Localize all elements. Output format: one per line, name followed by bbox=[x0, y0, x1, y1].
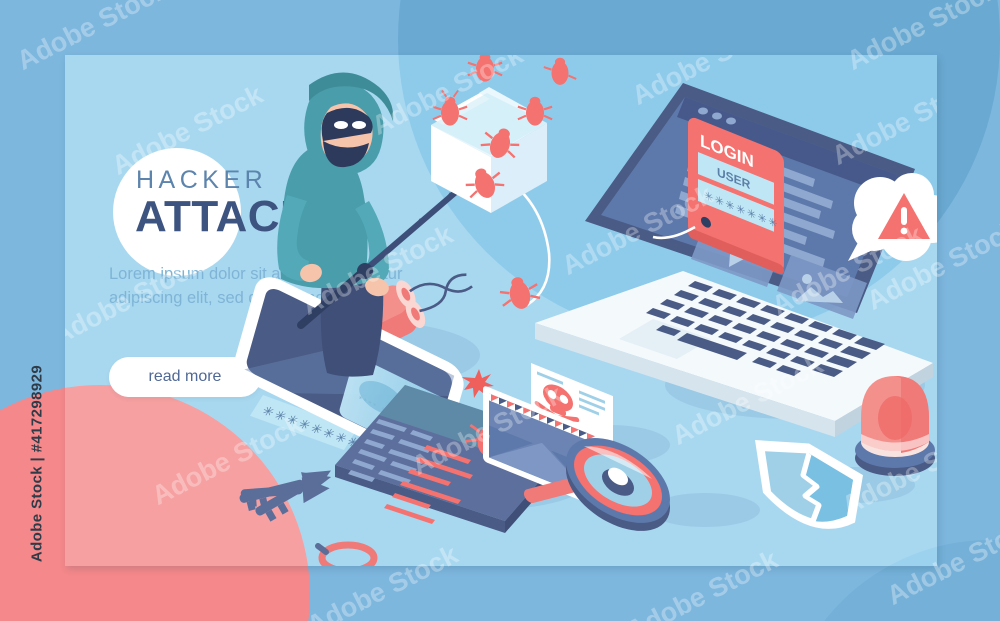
watermark-tile: Adobe Stock bbox=[407, 379, 568, 482]
watermark-tile: Adobe Stock bbox=[367, 55, 528, 142]
watermark-tile: Adobe Stock bbox=[65, 249, 208, 352]
watermark-tile: Adobe Stock bbox=[557, 179, 718, 282]
watermark-tile: Adobe Stock bbox=[147, 409, 308, 512]
watermark-tile: Adobe Stock bbox=[837, 419, 937, 522]
hero-card: HACKER ATTACK Lorem ipsum dolor sit amet… bbox=[65, 55, 937, 566]
watermark-layer: Adobe Stock Adobe Stock Adobe Stock Adob… bbox=[65, 55, 937, 566]
watermark-tile: Adobe Stock bbox=[767, 219, 928, 322]
watermark-tile: Adobe Stock bbox=[627, 55, 788, 112]
stock-id-watermark: Adobe Stock | #417298929 bbox=[29, 344, 46, 584]
watermark-tile: Adobe Stock bbox=[667, 349, 828, 452]
illustration-canvas: HACKER ATTACK Lorem ipsum dolor sit amet… bbox=[0, 0, 1000, 621]
watermark-tile: Adobe Stock bbox=[297, 219, 458, 322]
watermark-tile: Adobe Stock bbox=[107, 79, 268, 182]
watermark-tile: Adobe Stock bbox=[827, 69, 937, 172]
